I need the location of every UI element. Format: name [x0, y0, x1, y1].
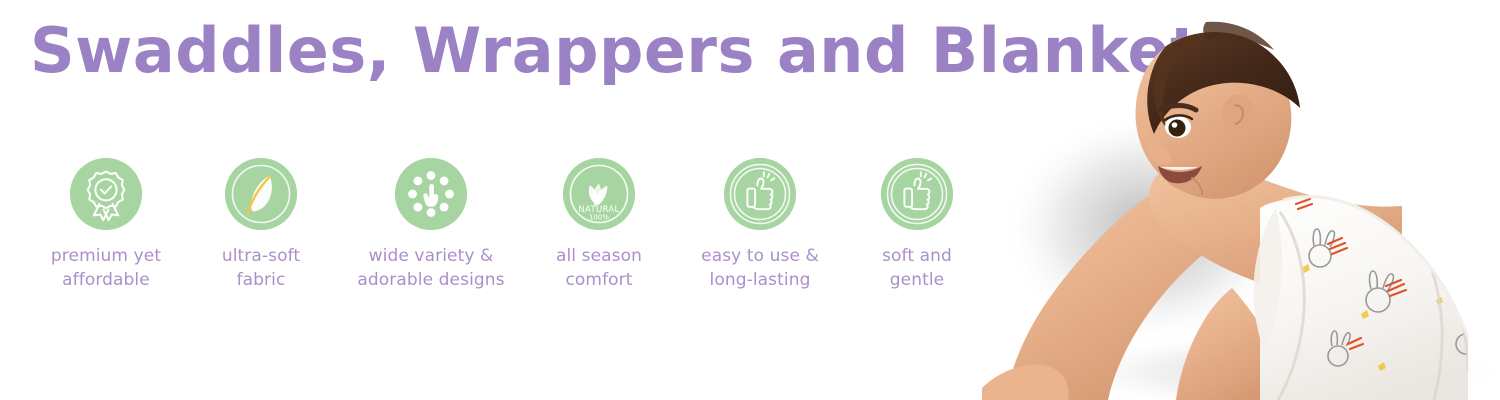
feature-item-soft-fabric: ultra-soft fabric — [184, 158, 338, 292]
feature-item-premium: premium yet affordable — [28, 158, 184, 292]
feature-label: wide variety & adorable designs — [338, 244, 524, 292]
feature-list: premium yet affordable ultra-soft fabric — [28, 158, 988, 328]
feature-item-variety: wide variety & adorable designs — [338, 158, 524, 292]
feature-item-easy-to-use: easy to use & long-lasting — [674, 158, 846, 292]
thumbs-up-icon — [724, 158, 796, 230]
feature-label: ultra-soft fabric — [184, 244, 338, 292]
feature-label: easy to use & long-lasting — [674, 244, 846, 292]
feature-item-all-season: NATURAL 100% all season comfort — [524, 158, 674, 292]
feather-icon — [225, 158, 297, 230]
feature-item-soft-gentle: soft and gentle — [846, 158, 988, 292]
natural-badge-line1: NATURAL — [578, 204, 619, 214]
natural-leaf-icon: NATURAL 100% — [563, 158, 635, 230]
variety-dots-icon — [395, 158, 467, 230]
feature-label: premium yet affordable — [28, 244, 184, 292]
natural-badge-line2: 100% — [589, 214, 609, 222]
quality-badge-icon — [70, 158, 142, 230]
feature-label: soft and gentle — [846, 244, 988, 292]
thumbs-up-icon — [881, 158, 953, 230]
baby-photo — [980, 0, 1500, 400]
feature-label: all season comfort — [524, 244, 674, 292]
promo-banner: Swaddles, Wrappers and Blankets premium … — [0, 0, 1500, 400]
